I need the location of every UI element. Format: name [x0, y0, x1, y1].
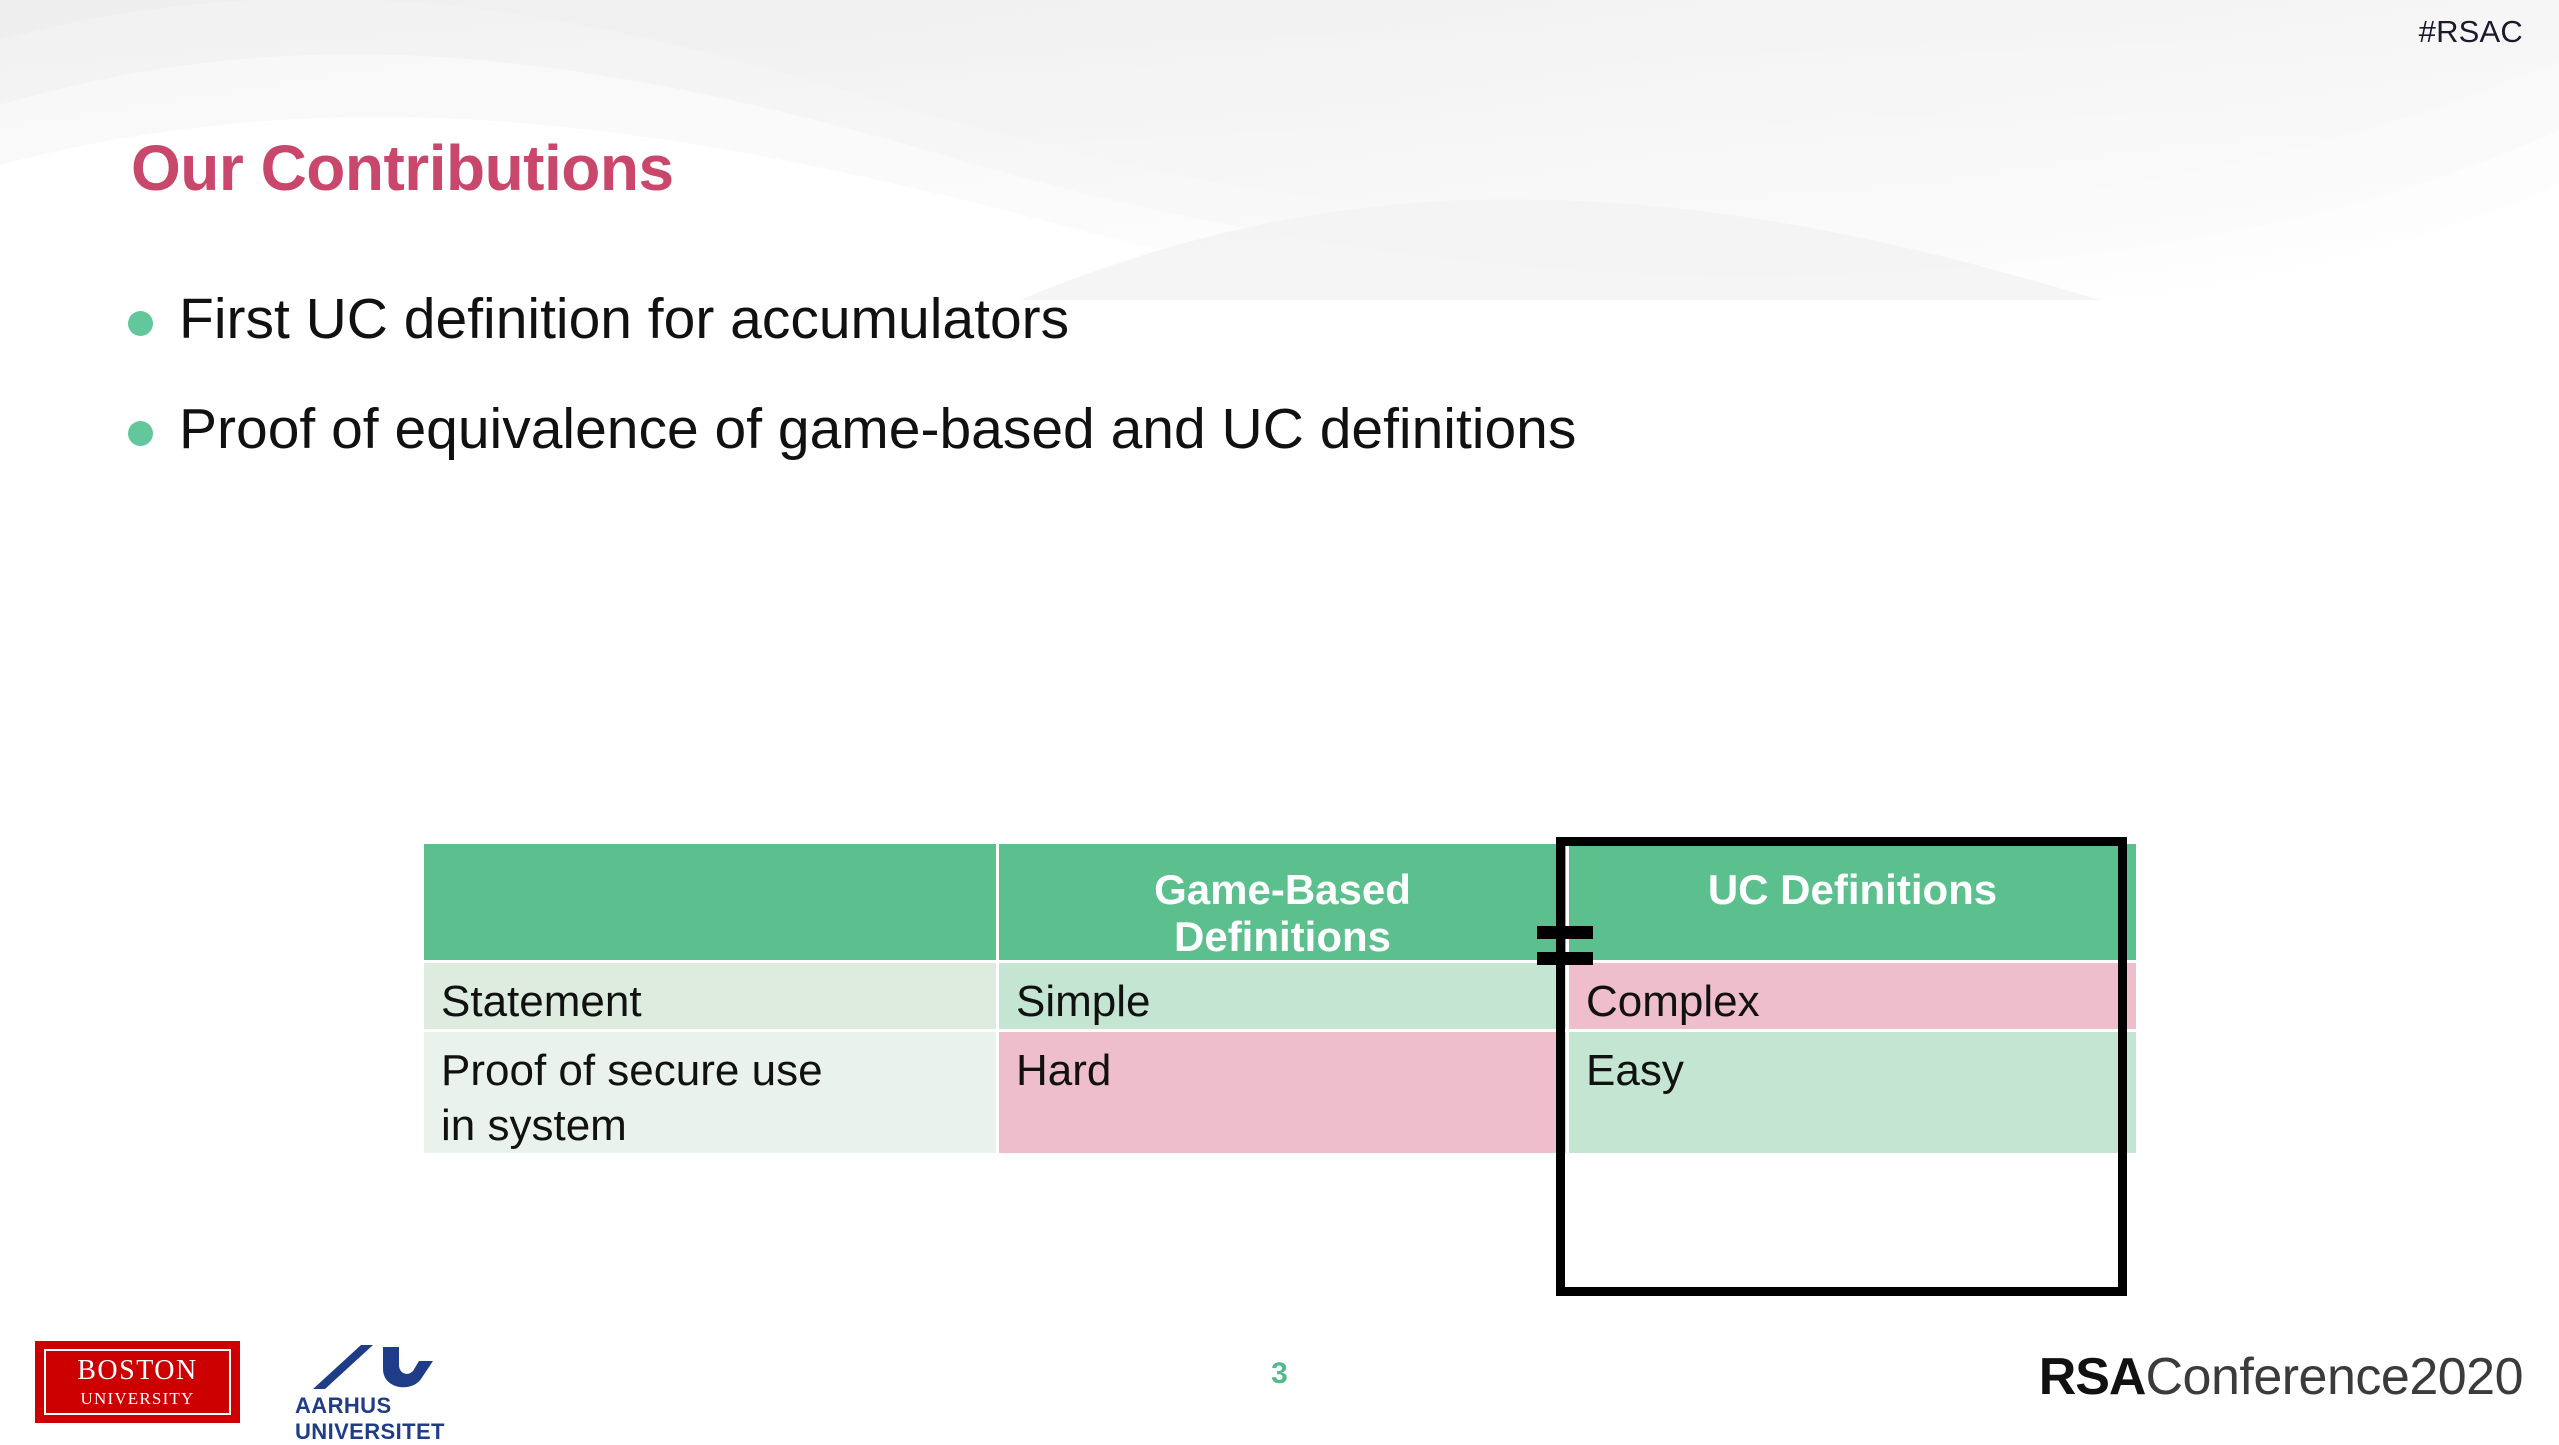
bullet-dot-icon	[128, 311, 153, 336]
header-line-1: UC Definitions	[1569, 866, 2136, 913]
row-label-statement: Statement	[424, 963, 996, 1029]
cell-statement-game-based: Simple	[999, 963, 1566, 1029]
page-title: Our Contributions	[131, 131, 674, 205]
table-row: Statement Simple Complex	[424, 963, 2136, 1029]
bullet-dot-icon	[128, 421, 153, 446]
table-row: Proof of secure use in system Hard Easy	[424, 1032, 2136, 1153]
table-header-game-based: Game-Based Definitions	[999, 844, 1566, 960]
rsa-logo-light: Conference2020	[2145, 1348, 2523, 1406]
bullet-list: First UC definition for accumulators Pro…	[128, 285, 2328, 504]
bullet-text: First UC definition for accumulators	[179, 285, 1069, 355]
list-item: Proof of equivalence of game-based and U…	[128, 395, 2328, 465]
table-header-uc: UC Definitions	[1569, 844, 2136, 960]
cell-proof-game-based: Hard	[999, 1032, 1566, 1153]
header-line-1: Game-Based	[999, 866, 1566, 913]
comparison-table: Game-Based Definitions UC Definitions St…	[421, 841, 2127, 1292]
bu-logo-line-2: UNIVERSITY	[81, 1390, 195, 1407]
cell-statement-uc: Complex	[1569, 963, 2136, 1029]
row-label-line-1: Proof of secure use	[441, 1043, 996, 1098]
cell-proof-uc: Easy	[1569, 1032, 2136, 1153]
footer: BOSTON UNIVERSITY AARHUS UNIVERSITET 3 R…	[0, 1319, 2559, 1439]
table-header-corner	[424, 844, 996, 960]
rsa-logo-bold: RSA	[2039, 1348, 2146, 1406]
rsac-hashtag: #RSAC	[2419, 14, 2523, 50]
table-header-row: Game-Based Definitions UC Definitions	[424, 844, 2136, 960]
aarhus-logo-text: AARHUS UNIVERSITET	[295, 1393, 535, 1445]
bullet-text: Proof of equivalence of game-based and U…	[179, 395, 1576, 465]
header-line-2: Definitions	[999, 913, 1566, 960]
table: Game-Based Definitions UC Definitions St…	[421, 841, 2139, 1156]
row-label-line-2: in system	[441, 1098, 996, 1153]
row-label-proof: Proof of secure use in system	[424, 1032, 996, 1153]
rsa-conference-logo: RSAConference2020	[2039, 1347, 2523, 1407]
list-item: First UC definition for accumulators	[128, 285, 2328, 355]
